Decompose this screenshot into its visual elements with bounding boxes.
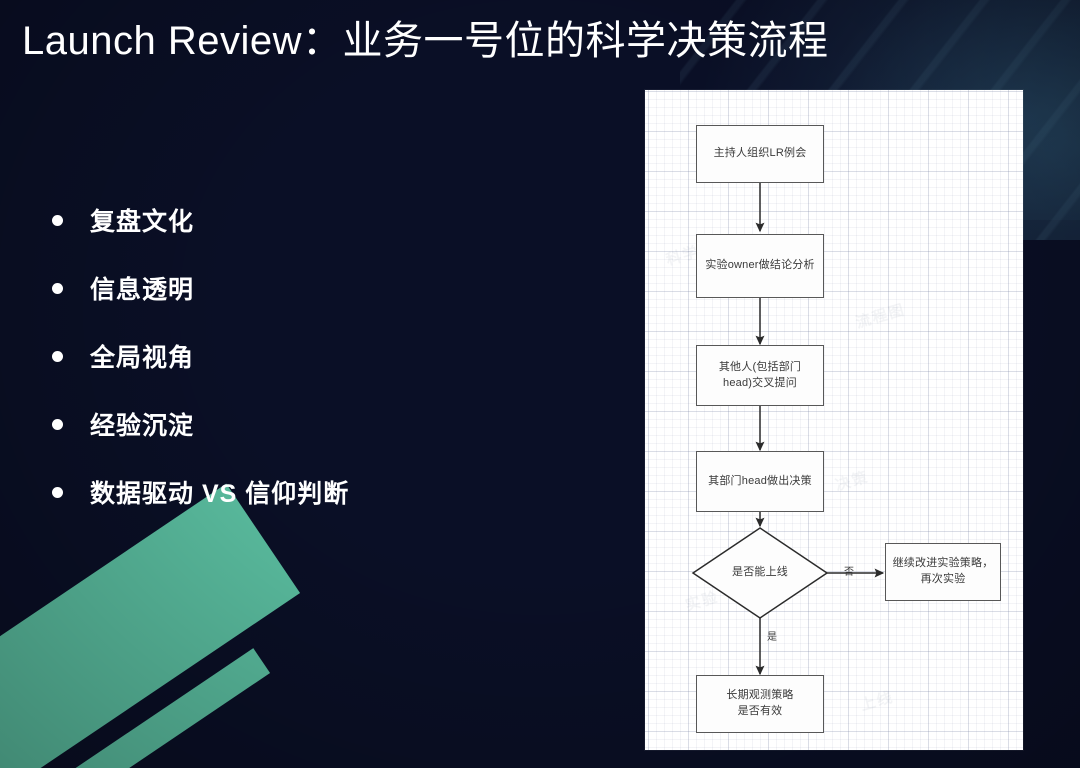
node-label-multiline: 长期观测策略 是否有效 [726, 688, 793, 720]
bullet-list: 复盘文化 信息透明 全局视角 经验沉淀 数据驱动 VS 信仰判断 [52, 186, 522, 526]
node-label-multiline: 继续改进实验策略， 再次实验 [893, 556, 994, 588]
bullet-dot-icon [52, 419, 63, 430]
node-experiment-owner-analysis: 实验owner做结论分析 [696, 234, 824, 298]
bullet-label: 信息透明 [90, 270, 194, 306]
bullet-dot-icon [52, 215, 63, 226]
bullet-dot-icon [52, 487, 63, 498]
node-label-line-1: 继续改进实验策略， [893, 557, 994, 569]
page-title: Launch Review：业务一号位的科学决策流程 [22, 16, 829, 66]
node-label-line-2: 再次实验 [921, 573, 966, 585]
list-item: 复盘文化 [52, 186, 522, 254]
flowchart-connectors [645, 90, 1023, 750]
node-label: 主持人组织LR例会 [714, 146, 807, 162]
bullet-label: 经验沉淀 [90, 406, 194, 442]
node-label-line-2: head)交叉提问 [723, 377, 797, 389]
node-others-cross-questioning: 其他人(包括部门 head)交叉提问 [696, 345, 824, 406]
flowchart-panel: 科学决策 流程图 决策 实验 上线 [645, 90, 1023, 750]
node-label-line-1: 其他人(包括部门 [719, 361, 801, 373]
bullet-label: 复盘文化 [90, 202, 194, 238]
node-iterate-experiment-strategy: 继续改进实验策略， 再次实验 [885, 543, 1001, 601]
bullet-dot-icon [52, 283, 63, 294]
bullet-label: 数据驱动 VS 信仰判断 [90, 474, 349, 510]
node-long-term-monitoring: 长期观测策略 是否有效 [696, 675, 824, 733]
edge-label-no: 否 [844, 563, 854, 578]
node-label: 其部门head做出决策 [708, 474, 812, 490]
list-item: 经验沉淀 [52, 390, 522, 458]
decorative-stripe-bottom-left-thin [0, 648, 270, 768]
node-host-organizes-lr-meeting: 主持人组织LR例会 [696, 125, 824, 183]
node-label: 实验owner做结论分析 [705, 258, 814, 274]
node-label-line-1: 长期观测策略 [726, 689, 793, 701]
node-diamond-decision [693, 528, 827, 618]
bullet-label: 全局视角 [90, 338, 194, 374]
list-item: 信息透明 [52, 254, 522, 322]
list-item: 数据驱动 VS 信仰判断 [52, 458, 522, 526]
node-label-multiline: 其他人(包括部门 head)交叉提问 [719, 360, 801, 392]
slide-canvas: Launch Review：业务一号位的科学决策流程 复盘文化 信息透明 全局视… [0, 0, 1080, 768]
edge-label-yes: 是 [767, 628, 777, 643]
bullet-dot-icon [52, 351, 63, 362]
list-item: 全局视角 [52, 322, 522, 390]
node-department-head-decides: 其部门head做出决策 [696, 451, 824, 512]
node-label-line-2: 是否有效 [738, 705, 783, 717]
decorative-stripe-bottom-left [0, 484, 300, 768]
